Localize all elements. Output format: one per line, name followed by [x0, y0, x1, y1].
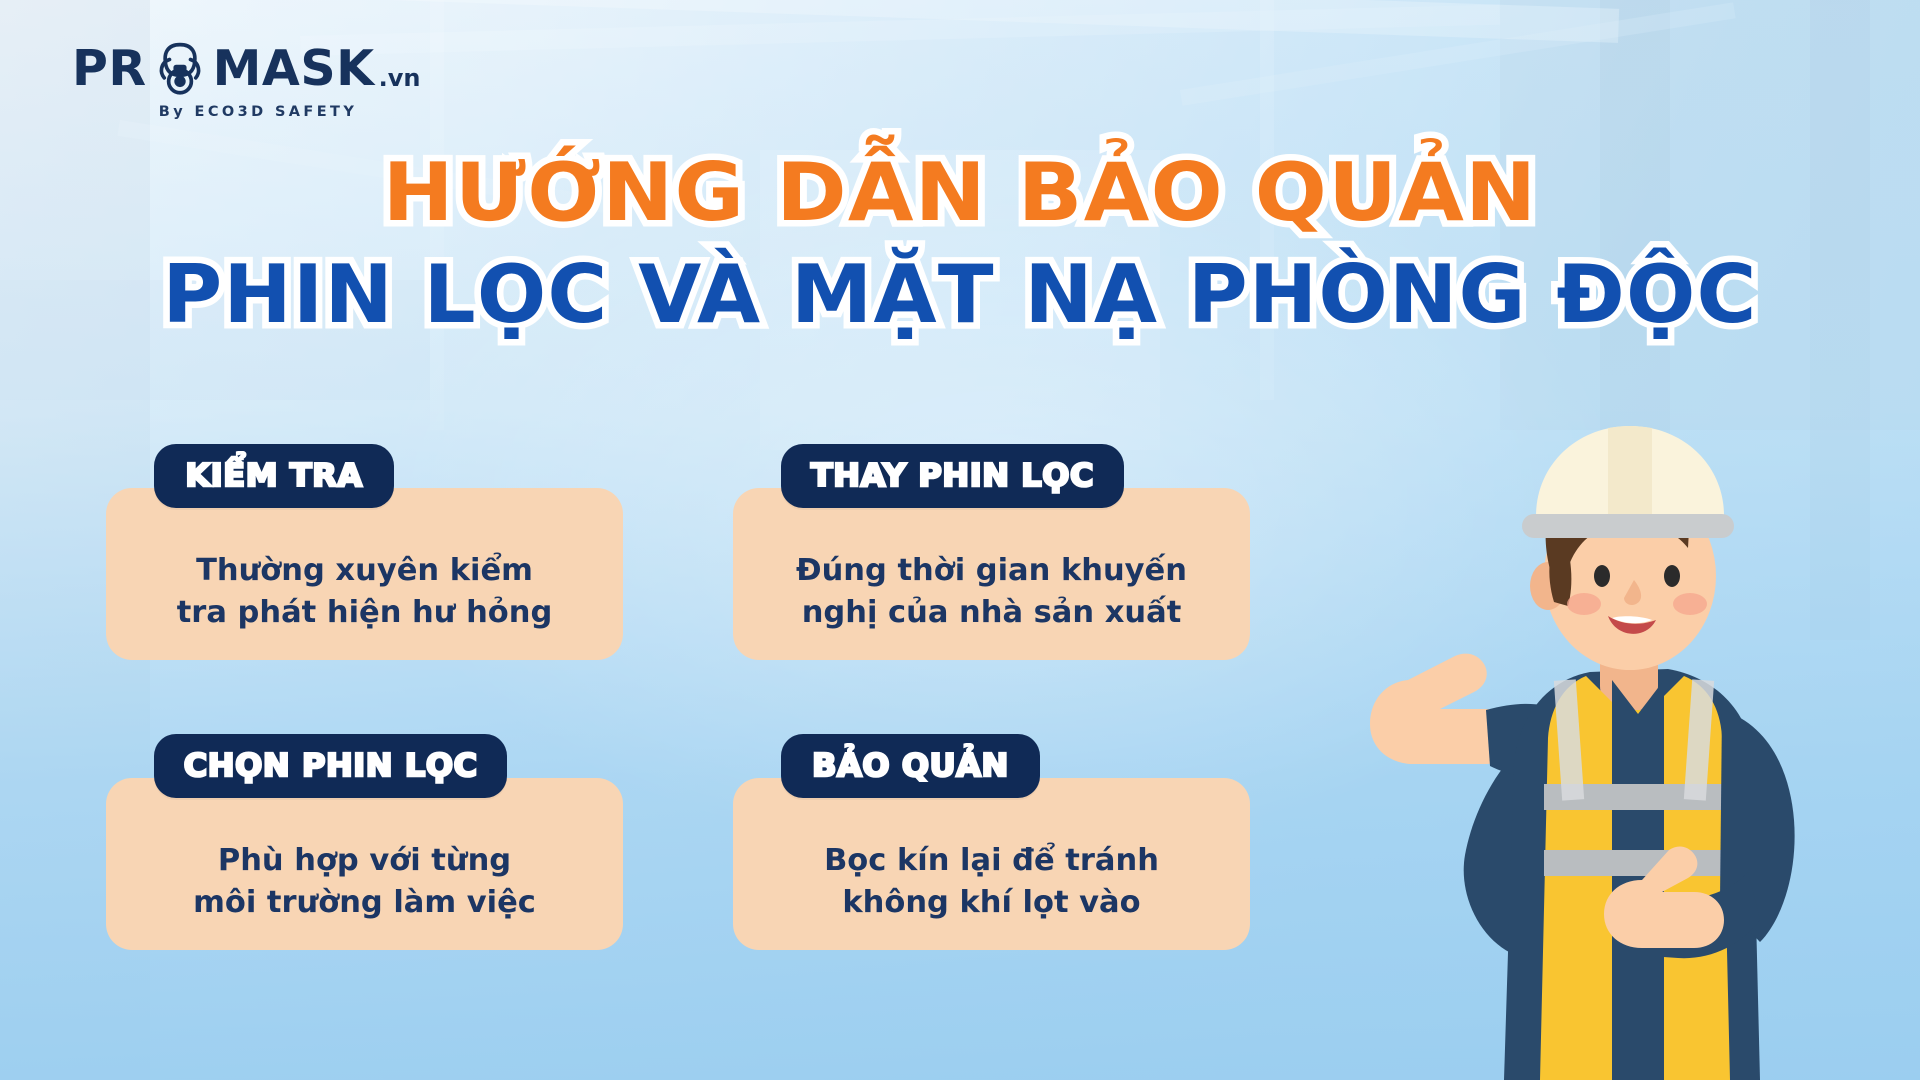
worker-character-illustration — [1290, 380, 1910, 1080]
tip-card-body: Đúng thời gian khuyến nghị của nhà sản x… — [733, 488, 1250, 660]
tip-card-thay-phin-loc[interactable]: Đúng thời gian khuyến nghị của nhà sản x… — [733, 488, 1250, 660]
logo-wordmark: PR MASK .vn — [72, 40, 492, 96]
tip-card-body: Bọc kín lại để tránh không khí lọt vào — [733, 778, 1250, 950]
tip-card-chon-phin-loc[interactable]: Phù hợp với từng môi trường làm việc CHỌ… — [106, 778, 623, 950]
tips-grid: Thường xuyên kiểm tra phát hiện hư hỏng … — [106, 488, 1286, 1068]
tip-card-title: CHỌN PHIN LỌC — [184, 748, 478, 784]
brand-logo[interactable]: PR MASK .vn By ECO3D SAFETY — [72, 40, 492, 120]
tip-card-title: BẢO QUẢN — [812, 748, 1009, 784]
tip-card-kiem-tra[interactable]: Thường xuyên kiểm tra phát hiện hư hỏng … — [106, 488, 623, 660]
logo-text-mask: MASK — [213, 44, 375, 93]
tips-row-2: Phù hợp với từng môi trường làm việc CHỌ… — [106, 778, 1286, 950]
logo-text-domain: .vn — [379, 64, 421, 92]
title-line-1: HƯỚNG DẪN BẢO QUẢN — [0, 152, 1920, 234]
gas-mask-icon — [152, 42, 208, 98]
tip-card-title-pill: KIỂM TRA — [154, 444, 394, 508]
tip-card-body: Thường xuyên kiểm tra phát hiện hư hỏng — [106, 488, 623, 660]
tip-card-bao-quan[interactable]: Bọc kín lại để tránh không khí lọt vào B… — [733, 778, 1250, 950]
tip-card-text: Phù hợp với từng môi trường làm việc — [193, 840, 536, 924]
infographic-canvas: PR MASK .vn By ECO3D SAFETY HƯỚNG DẪN BẢ… — [0, 0, 1920, 1080]
tip-card-text: Bọc kín lại để tránh không khí lọt vào — [824, 840, 1159, 924]
tip-card-title-pill: CHỌN PHIN LỌC — [154, 734, 507, 798]
tip-card-title-pill: BẢO QUẢN — [781, 734, 1040, 798]
tips-row-1: Thường xuyên kiểm tra phát hiện hư hỏng … — [106, 488, 1286, 660]
tip-card-title-pill: THAY PHIN LỌC — [781, 444, 1124, 508]
page-title: HƯỚNG DẪN BẢO QUẢN PHIN LỌC VÀ MẶT NẠ PH… — [0, 152, 1920, 335]
logo-tagline: By ECO3D SAFETY — [72, 104, 444, 120]
title-line-2: PHIN LỌC VÀ MẶT NẠ PHÒNG ĐỘC — [0, 254, 1920, 336]
logo-text-pro: PR — [72, 44, 147, 93]
tip-card-body: Phù hợp với từng môi trường làm việc — [106, 778, 623, 950]
tip-card-title: THAY PHIN LỌC — [811, 458, 1094, 494]
tip-card-title: KIỂM TRA — [185, 458, 362, 494]
tip-card-text: Đúng thời gian khuyến nghị của nhà sản x… — [796, 550, 1187, 634]
tip-card-text: Thường xuyên kiểm tra phát hiện hư hỏng — [177, 550, 553, 634]
